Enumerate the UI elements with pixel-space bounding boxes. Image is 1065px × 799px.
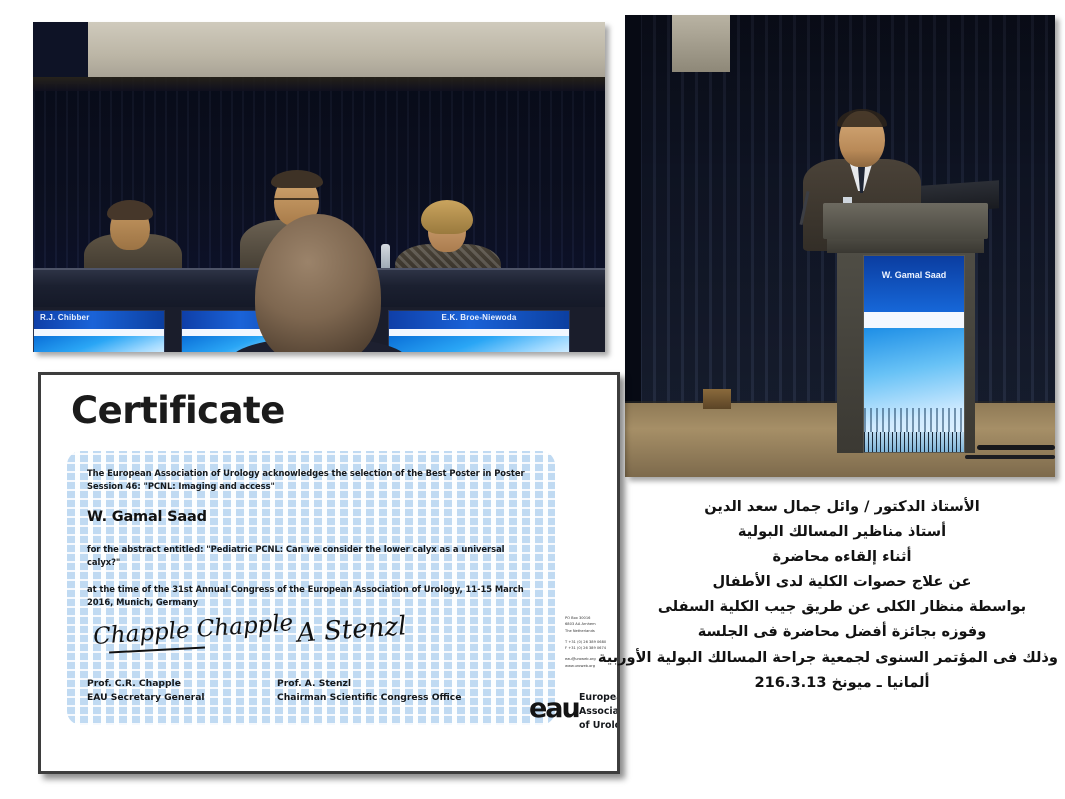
stage-cable-2: [965, 455, 1055, 459]
nameplate-left-strip: [34, 329, 164, 336]
eau-logo: eau European Association of Urology: [529, 691, 620, 749]
stage-cable-1: [977, 445, 1055, 450]
podium-top-lower: [827, 237, 984, 253]
certificate-inner: Certificate The European Association of …: [41, 375, 617, 771]
signatory-2-role: Chairman Scientific Congress Office: [277, 691, 461, 705]
podium-top: [823, 203, 988, 239]
podium-sign-skyline: [864, 408, 964, 434]
spacer-1: [87, 525, 539, 543]
podium-sign-foreground: [864, 432, 964, 452]
podium: W. Gamal Saad: [823, 203, 988, 453]
certificate-event-line-2: 2016, Munich, Germany: [87, 596, 539, 609]
signatory-1-role: EAU Secretary General: [87, 691, 205, 705]
curtain-seam: [625, 15, 641, 403]
nameplate-right-strip: [389, 329, 569, 336]
podium-sign-label: W. Gamal Saad: [864, 270, 964, 280]
nameplate-left-image: [34, 336, 164, 352]
panelist-center-hair: [271, 170, 323, 188]
eau-logo-line-2: Association: [579, 705, 620, 719]
nameplate-right-label: E.K. Broe-Niewoda: [393, 313, 565, 322]
certificate-intro-line-2: Session 46: "PCNL: Imaging and access": [87, 480, 539, 493]
panelist-right-hair: [421, 200, 473, 234]
photo-conference-panel: R.J. Chibber E.K. Broe-Niewoda: [33, 22, 605, 352]
arabic-line-4: عن علاج حصوات الكلية لدى الأطفال: [626, 569, 1058, 594]
eau-wordmark-icon: eau: [529, 695, 579, 722]
arabic-line-5: بواسطة منظار الكلى عن طريق جيب الكلية ال…: [626, 594, 1058, 619]
signature-row: Chapple Chapple A Stenzl: [87, 613, 527, 673]
speaker-projection-screen: [672, 15, 730, 72]
certificate-intro-line-1: The European Association of Urology ackn…: [87, 467, 539, 480]
signatory-1: Prof. C.R. Chapple EAU Secretary General: [87, 677, 205, 705]
arabic-line-7: وذلك فى المؤتمر السنوى لجمعية جراحة المس…: [626, 645, 1058, 670]
panelist-left: [78, 200, 188, 275]
signature-chapple: Chapple Chapple: [92, 610, 294, 650]
stage-floor-box: [703, 389, 731, 409]
curtain-valance: [33, 77, 605, 91]
signatory-2: Prof. A. Stenzl Chairman Scientific Cong…: [277, 677, 461, 705]
certificate-recipient-name: W. Gamal Saad: [87, 509, 539, 525]
certificate-abstract-line-2: calyx?": [87, 556, 539, 569]
spacer-2: [87, 569, 539, 583]
certificate-watermark-body: The European Association of Urology ackn…: [67, 451, 555, 725]
signatory-1-name: Prof. C.R. Chapple: [87, 677, 205, 691]
certificate-text-block: The European Association of Urology ackn…: [87, 467, 539, 609]
speaker-hair: [837, 109, 887, 127]
arabic-line-6: وفوزه بجائزة أفضل محاضرة فى الجلسة: [626, 619, 1058, 644]
arabic-line-8: ألمانيا ـ ميونخ 216.3.13: [626, 670, 1058, 695]
eau-logo-words: European Association of Urology: [579, 691, 620, 733]
certificate-title: Certificate: [71, 389, 285, 432]
certificate-event-line-1: at the time of the 31st Annual Congress …: [87, 583, 539, 596]
signatory-2-name: Prof. A. Stenzl: [277, 677, 461, 691]
nameplate-screen-left: R.J. Chibber: [33, 310, 165, 352]
eau-logo-line-1: European: [579, 691, 620, 705]
eau-logo-line-3: of Urology: [579, 719, 620, 733]
projection-screen: [88, 22, 605, 77]
nameplate-left-label: R.J. Chibber: [38, 313, 160, 322]
glasses-icon: [274, 198, 319, 207]
podium-sign-header: [864, 256, 964, 312]
nameplate-right-image: [389, 336, 569, 352]
certificate-abstract-line-1: for the abstract entitled: "Pediatric PC…: [87, 543, 539, 556]
nameplate-screen-right: E.K. Broe-Niewoda: [388, 310, 570, 352]
podium-sign-strip: [864, 312, 964, 328]
arabic-line-1: الأستاذ الدكتور / وائل جمال سعد الدين: [626, 494, 1058, 519]
arabic-line-3: أثناء إلقاءه محاضرة: [626, 544, 1058, 569]
photo-speaker-at-podium: W. Gamal Saad: [625, 15, 1055, 477]
arabic-line-2: أستاذ مناظير المسالك البولية: [626, 519, 1058, 544]
podium-sign-panel: W. Gamal Saad: [863, 255, 965, 453]
podium-sign-image: [864, 328, 964, 452]
panelist-left-hair: [107, 200, 153, 220]
screen-edge: [33, 22, 91, 84]
signature-stenzl: A Stenzl: [296, 611, 407, 649]
collage-page: R.J. Chibber E.K. Broe-Niewoda: [0, 0, 1065, 799]
certificate: Certificate The European Association of …: [38, 372, 620, 774]
arabic-caption: الأستاذ الدكتور / وائل جمال سعد الدين أس…: [626, 494, 1058, 695]
